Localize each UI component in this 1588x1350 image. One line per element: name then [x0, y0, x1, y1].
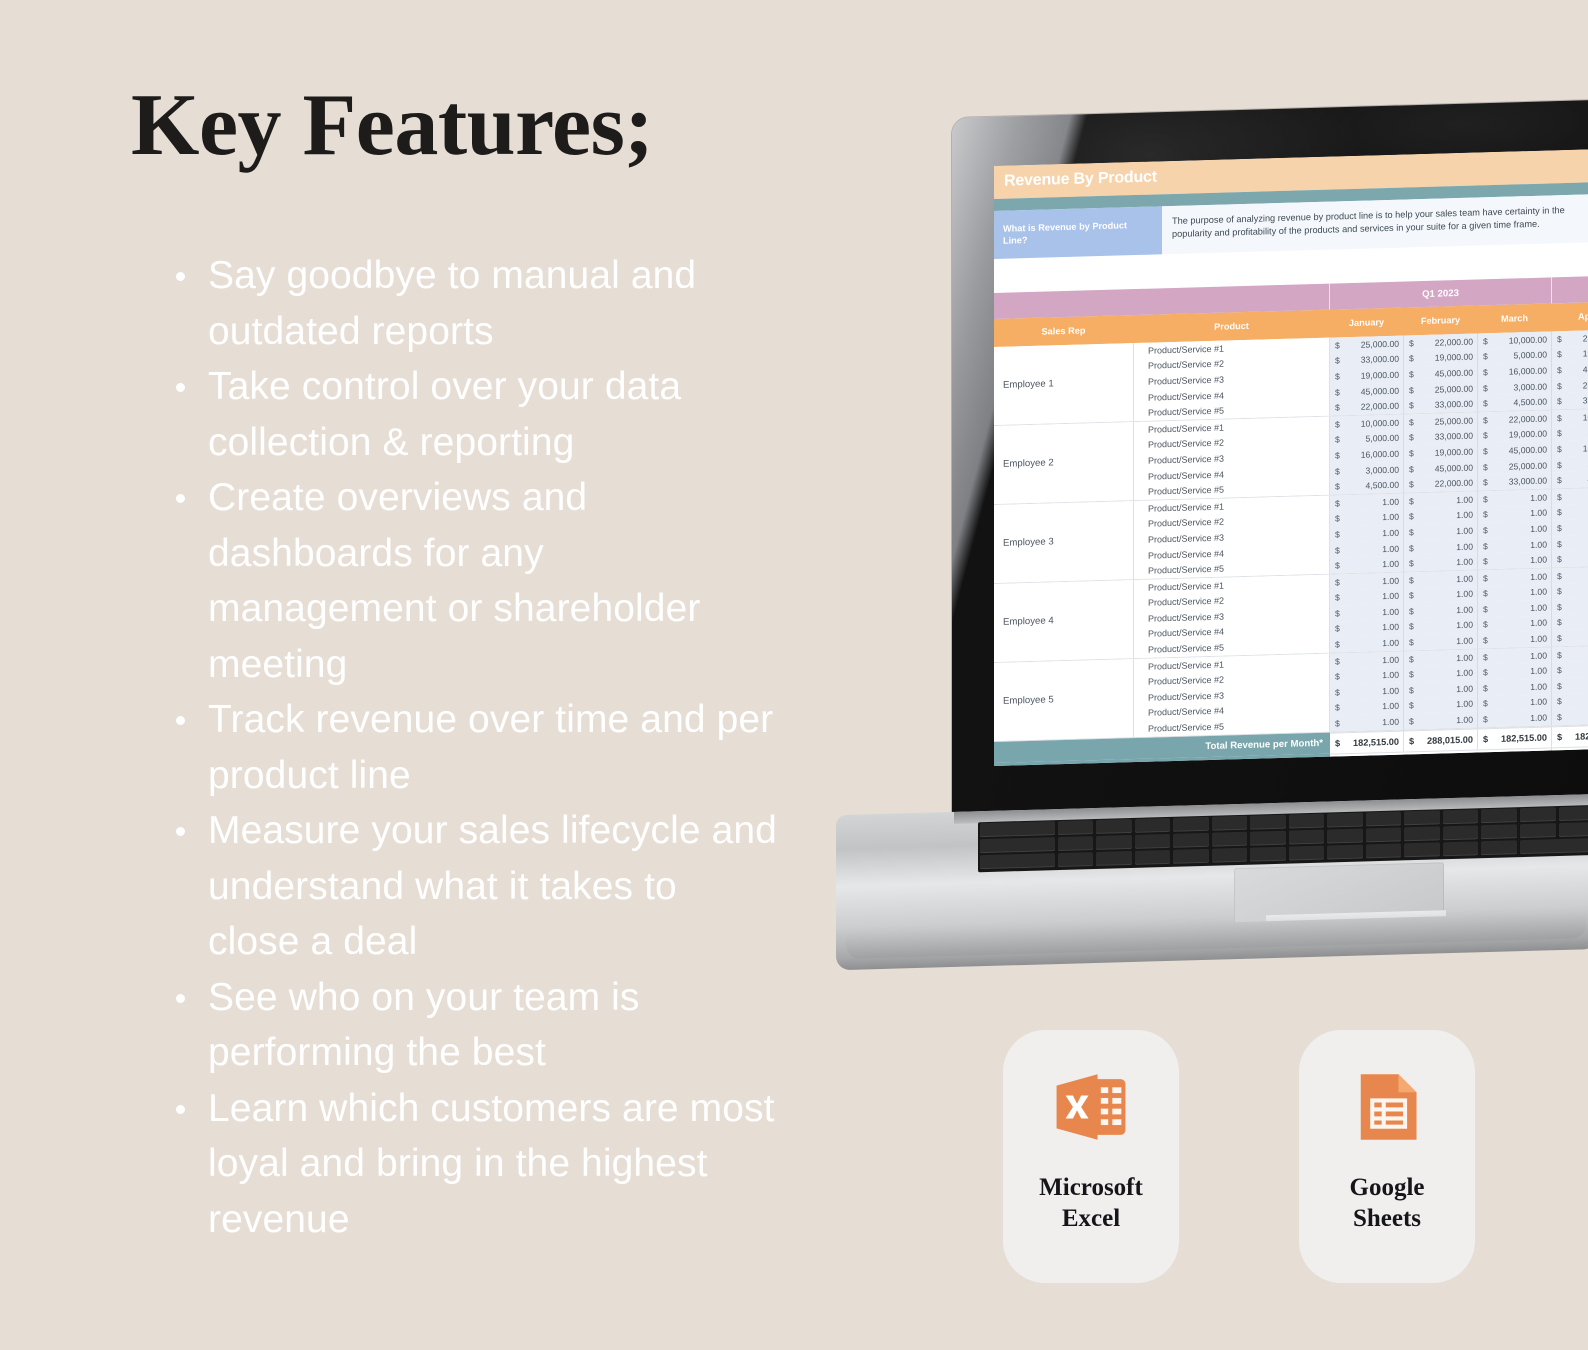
currency-symbol: $: [1409, 606, 1414, 616]
revenue-amount: 19,000.00: [1361, 370, 1399, 381]
currency-symbol: $: [1409, 591, 1414, 601]
total-month-cell: $182,515.00: [1330, 730, 1404, 753]
currency-symbol: $: [1483, 431, 1488, 441]
revenue-amount: 22,000.00: [1361, 401, 1399, 412]
currency-symbol: $: [1335, 545, 1340, 555]
revenue-cell: $: [1552, 534, 1588, 552]
revenue-cell: $1.00: [1478, 631, 1552, 649]
revenue-cell: $1.00: [1478, 710, 1552, 728]
currency-symbol: $: [1409, 496, 1414, 506]
revenue-amount: 1.00: [1382, 496, 1399, 506]
currency-symbol: $: [1409, 670, 1414, 680]
revenue-amount: 1.00: [1530, 539, 1547, 549]
revenue-amount: 1.00: [1530, 634, 1547, 644]
revenue-cell: $1.00: [1404, 712, 1478, 730]
currency-symbol: $: [1483, 652, 1488, 662]
revenue-amount: 45,000.00: [1435, 368, 1473, 379]
revenue-amount: 19,000.00: [1435, 447, 1473, 458]
revenue-amount: 33,000.00: [1583, 395, 1588, 406]
currency-symbol: $: [1335, 593, 1340, 603]
revenue-amount: 1.00: [1530, 587, 1547, 597]
revenue-cell: $22,000.00: [1404, 475, 1478, 493]
currency-symbol: $: [1483, 734, 1488, 744]
revenue-cell: $10,000.00: [1552, 408, 1588, 426]
revenue-cell: $1.00: [1404, 633, 1478, 651]
revenue-amount: 25,000.00: [1361, 338, 1399, 349]
currency-symbol: $: [1335, 624, 1340, 634]
revenue-amount: 10,000.00: [1583, 411, 1588, 422]
currency-symbol: $: [1335, 703, 1340, 713]
revenue-amount: 16,000.00: [1583, 442, 1588, 453]
currency-symbol: $: [1483, 573, 1488, 583]
currency-symbol: $: [1483, 462, 1488, 472]
revenue-cell: $1.00: [1330, 714, 1404, 732]
currency-symbol: $: [1335, 529, 1340, 539]
currency-symbol: $: [1409, 716, 1414, 726]
feature-item: Say goodbye to manual and outdated repor…: [168, 248, 778, 359]
excel-icon: [1050, 1066, 1132, 1148]
revenue-amount: 19,000.00: [1509, 429, 1547, 440]
revenue-cell: $4,500.00: [1330, 477, 1404, 495]
currency-symbol: $: [1409, 338, 1414, 348]
currency-symbol: $: [1557, 365, 1562, 375]
currency-symbol: $: [1409, 400, 1414, 410]
revenue-cell: $: [1552, 503, 1588, 521]
feature-item: Measure your sales lifecycle and underst…: [168, 803, 778, 970]
revenue-amount: 4,500.00: [1366, 480, 1399, 491]
revenue-amount: 1.00: [1382, 654, 1399, 664]
revenue-amount: 1.00: [1382, 559, 1399, 569]
revenue-amount: 1.00: [1530, 555, 1547, 565]
laptop-base: [836, 794, 1588, 970]
currency-symbol: $: [1557, 350, 1562, 360]
revenue-amount: 3,000.00: [1366, 464, 1399, 475]
revenue-amount: 10,000.00: [1509, 334, 1547, 345]
revenue-cell: $33,000.00: [1552, 392, 1588, 410]
revenue-amount: 1.00: [1382, 575, 1399, 585]
revenue-amount: 33,000.00: [1435, 399, 1473, 410]
currency-symbol: $: [1335, 356, 1340, 366]
currency-symbol: $: [1483, 494, 1488, 504]
currency-symbol: $: [1335, 481, 1340, 491]
quarter-next-cell: [1552, 272, 1588, 304]
revenue-amount: 1.00: [1456, 636, 1473, 646]
currency-symbol: $: [1335, 672, 1340, 682]
currency-symbol: $: [1335, 340, 1340, 350]
currency-symbol: $: [1557, 396, 1562, 406]
revenue-amount: 22,000.00: [1583, 332, 1588, 343]
revenue-amount: 33,000.00: [1361, 354, 1399, 365]
revenue-cell: $: [1552, 550, 1588, 568]
revenue-amount: 1.00: [1530, 571, 1547, 581]
revenue-cell: $22,000.00: [1330, 398, 1404, 416]
currency-symbol: $: [1335, 738, 1340, 748]
revenue-amount: 1.00: [1530, 618, 1547, 628]
revenue-amount: 1.00: [1530, 666, 1547, 676]
revenue-cell: $: [1552, 629, 1588, 647]
total-month-cell: $182,515.00: [1478, 726, 1552, 749]
currency-symbol: $: [1409, 464, 1414, 474]
currency-symbol: $: [1409, 622, 1414, 632]
revenue-amount: 1.00: [1456, 715, 1473, 725]
employee-name: Employee 2: [994, 422, 1134, 504]
revenue-amount: 45,000.00: [1509, 445, 1547, 456]
total-month-amount: 182,515.00: [1501, 732, 1547, 743]
revenue-amount: 16,000.00: [1361, 449, 1399, 460]
currency-symbol: $: [1335, 718, 1340, 728]
revenue-amount: 1.00: [1382, 686, 1399, 696]
badge-google-sheets: GoogleSheets: [1299, 1030, 1475, 1283]
currency-symbol: $: [1409, 736, 1414, 746]
currency-symbol: $: [1483, 398, 1488, 408]
revenue-amount: 25,000.00: [1583, 379, 1588, 390]
currency-symbol: $: [1335, 403, 1340, 413]
revenue-amount: 1.00: [1456, 573, 1473, 583]
revenue-amount: 5,000.00: [1366, 433, 1399, 444]
revenue-amount: 1.00: [1456, 510, 1473, 520]
revenue-amount: 1.00: [1456, 699, 1473, 709]
currency-symbol: $: [1483, 604, 1488, 614]
currency-symbol: $: [1557, 665, 1562, 675]
info-question-label: What is Revenue by Product Line?: [994, 206, 1162, 259]
currency-symbol: $: [1483, 415, 1488, 425]
currency-symbol: $: [1409, 654, 1414, 664]
currency-symbol: $: [1409, 385, 1414, 395]
revenue-amount: 1.00: [1530, 523, 1547, 533]
currency-symbol: $: [1409, 369, 1414, 379]
revenue-amount: 1.00: [1456, 668, 1473, 678]
header-month-march: March: [1478, 303, 1552, 333]
currency-symbol: $: [1557, 650, 1562, 660]
revenue-cell: $: [1552, 582, 1588, 600]
revenue-amount: 1.00: [1382, 670, 1399, 680]
revenue-cell: $: [1552, 708, 1588, 726]
currency-symbol: $: [1335, 419, 1340, 429]
currency-symbol: $: [1557, 586, 1562, 596]
header-month-february: February: [1404, 305, 1478, 335]
currency-symbol: $: [1483, 699, 1488, 709]
revenue-cell: $1.00: [1478, 552, 1552, 570]
revenue-amount: 1.00: [1530, 602, 1547, 612]
currency-symbol: $: [1557, 334, 1562, 344]
currency-symbol: $: [1557, 381, 1562, 391]
currency-symbol: $: [1483, 446, 1488, 456]
currency-symbol: $: [1557, 523, 1562, 533]
currency-symbol: $: [1557, 460, 1562, 470]
revenue-amount: 33,000.00: [1435, 431, 1473, 442]
currency-symbol: $: [1483, 667, 1488, 677]
currency-symbol: $: [1557, 492, 1562, 502]
currency-symbol: $: [1557, 413, 1562, 423]
currency-symbol: $: [1335, 371, 1340, 381]
currency-symbol: $: [1483, 352, 1488, 362]
revenue-amount: 3,000.00: [1514, 381, 1547, 392]
currency-symbol: $: [1409, 543, 1414, 553]
revenue-cell: $: [1552, 597, 1588, 615]
currency-symbol: $: [1557, 732, 1562, 742]
revenue-amount: 1.00: [1382, 591, 1399, 601]
currency-symbol: $: [1335, 639, 1340, 649]
employee-name: Employee 1: [994, 343, 1134, 425]
revenue-cell: $: [1552, 645, 1588, 663]
currency-symbol: $: [1483, 683, 1488, 693]
revenue-amount: 1.00: [1382, 717, 1399, 727]
revenue-amount: 1.00: [1382, 701, 1399, 711]
revenue-amount: 22,000.00: [1435, 336, 1473, 347]
revenue-amount: 1.00: [1456, 605, 1473, 615]
feature-item: See who on your team is performing the b…: [168, 970, 778, 1081]
currency-symbol: $: [1335, 514, 1340, 524]
compatibility-badges: MicrosoftExcel GoogleSheets: [1003, 1030, 1475, 1283]
currency-symbol: $: [1557, 428, 1562, 438]
revenue-cell: $: [1552, 613, 1588, 631]
revenue-amount: 1.00: [1530, 492, 1547, 502]
currency-symbol: $: [1409, 575, 1414, 585]
employee-name: Employee 4: [994, 580, 1134, 662]
currency-symbol: $: [1335, 687, 1340, 697]
revenue-amount: 19,000.00: [1583, 348, 1588, 359]
google-sheets-icon: [1346, 1066, 1428, 1148]
currency-symbol: $: [1483, 620, 1488, 630]
total-month-amount: 182,515.00: [1353, 737, 1399, 748]
revenue-cell: $: [1552, 487, 1588, 505]
revenue-amount: 1.00: [1456, 589, 1473, 599]
revenue-cell: $25,000.00: [1552, 376, 1588, 394]
currency-symbol: $: [1557, 712, 1562, 722]
currency-symbol: $: [1483, 336, 1488, 346]
total-month-amount: 288,015.00: [1427, 734, 1473, 745]
currency-symbol: $: [1483, 714, 1488, 724]
currency-symbol: $: [1557, 475, 1562, 485]
currency-symbol: $: [1483, 510, 1488, 520]
revenue-cell: $33,000.00: [1404, 396, 1478, 414]
laptop-screen-content: Revenue By Product What is Revenue by Pr…: [994, 149, 1588, 766]
currency-symbol: $: [1335, 466, 1340, 476]
revenue-cell: $4,500.00: [1478, 394, 1552, 412]
revenue-amount: 19,000.00: [1435, 352, 1473, 363]
currency-symbol: $: [1409, 479, 1414, 489]
feature-item: Learn which customers are most loyal and…: [168, 1081, 778, 1248]
revenue-amount: 1.00: [1456, 620, 1473, 630]
revenue-amount: 45,000.00: [1583, 363, 1588, 374]
header-month-january: January: [1330, 308, 1404, 338]
feature-list: Say goodbye to manual and outdated repor…: [168, 248, 778, 1247]
revenue-cell: $: [1552, 676, 1588, 694]
revenue-amount: 1.00: [1456, 683, 1473, 693]
currency-symbol: $: [1409, 558, 1414, 568]
revenue-amount: 45,000.00: [1361, 385, 1399, 396]
currency-symbol: $: [1335, 435, 1340, 445]
revenue-amount: 25,000.00: [1435, 383, 1473, 394]
currency-symbol: $: [1557, 633, 1562, 643]
revenue-amount: 25,000.00: [1435, 415, 1473, 426]
currency-symbol: $: [1409, 448, 1414, 458]
feature-item: Track revenue over time and per product …: [168, 692, 778, 803]
currency-symbol: $: [1557, 602, 1562, 612]
revenue-amount: 1.00: [1530, 713, 1547, 723]
revenue-amount: 22,000.00: [1435, 478, 1473, 489]
currency-symbol: $: [1557, 571, 1562, 581]
revenue-cell: $: [1552, 692, 1588, 710]
currency-symbol: $: [1335, 387, 1340, 397]
header-sales-rep: Sales Rep: [994, 315, 1134, 347]
currency-symbol: $: [1335, 498, 1340, 508]
revenue-amount: 1.00: [1456, 494, 1473, 504]
revenue-amount: 1.00: [1530, 681, 1547, 691]
currency-symbol: $: [1409, 685, 1414, 695]
currency-symbol: $: [1557, 681, 1562, 691]
currency-symbol: $: [1483, 589, 1488, 599]
page-title: Key Features;: [131, 82, 653, 170]
left-content-panel: Key Features; Say goodbye to manual and …: [0, 0, 840, 1350]
revenue-amount: 1.00: [1382, 512, 1399, 522]
currency-symbol: $: [1557, 539, 1562, 549]
currency-symbol: $: [1409, 433, 1414, 443]
employee-rows-container: Employee 1Product/Service #1$25,000.00$2…: [994, 326, 1588, 742]
currency-symbol: $: [1557, 697, 1562, 707]
currency-symbol: $: [1483, 383, 1488, 393]
currency-symbol: $: [1335, 560, 1340, 570]
currency-symbol: $: [1409, 354, 1414, 364]
revenue-cell: $19,000.00: [1552, 345, 1588, 363]
revenue-amount: 22,000.00: [1509, 413, 1547, 424]
currency-symbol: $: [1557, 554, 1562, 564]
revenue-amount: 1.00: [1382, 622, 1399, 632]
revenue-cell: $5,000.00: [1552, 424, 1588, 442]
badge-microsoft-excel: MicrosoftExcel: [1003, 1030, 1179, 1283]
revenue-amount: 1.00: [1382, 543, 1399, 553]
revenue-amount: 1.00: [1382, 607, 1399, 617]
revenue-amount: 4,500.00: [1514, 397, 1547, 408]
revenue-cell: $22,000.00: [1552, 329, 1588, 347]
badge-label-sheets: GoogleSheets: [1350, 1172, 1425, 1234]
revenue-cell: $: [1552, 661, 1588, 679]
revenue-amount: 10,000.00: [1361, 417, 1399, 428]
revenue-cell: $: [1552, 566, 1588, 584]
total-month-cell: $288,015.00: [1404, 728, 1478, 751]
currency-symbol: $: [1335, 608, 1340, 618]
revenue-cell: $45,000.00: [1552, 361, 1588, 379]
revenue-amount: 1.00: [1530, 508, 1547, 518]
currency-symbol: $: [1335, 656, 1340, 666]
revenue-cell: $: [1552, 518, 1588, 536]
revenue-cell: $33,000.00: [1478, 473, 1552, 491]
feature-item: Take control over your data collection &…: [168, 359, 778, 470]
revenue-amount: 1.00: [1382, 638, 1399, 648]
revenue-amount: 16,000.00: [1509, 366, 1547, 377]
revenue-amount: 1.00: [1456, 557, 1473, 567]
revenue-amount: 1.00: [1382, 528, 1399, 538]
feature-item: Create overviews and dashboards for any …: [168, 470, 778, 692]
revenue-cell: $3,000.00: [1552, 455, 1588, 473]
revenue-amount: 1.00: [1456, 526, 1473, 536]
currency-symbol: $: [1557, 507, 1562, 517]
revenue-amount: 1.00: [1456, 652, 1473, 662]
total-month-amount: 182,515.00: [1575, 730, 1588, 741]
employee-name: Employee 5: [994, 659, 1134, 741]
revenue-cell: $16,000.00: [1552, 440, 1588, 458]
currency-symbol: $: [1483, 367, 1488, 377]
laptop-base-front: [846, 912, 1586, 959]
header-month-april: April: [1552, 301, 1588, 331]
currency-symbol: $: [1483, 635, 1488, 645]
currency-symbol: $: [1483, 477, 1488, 487]
currency-symbol: $: [1409, 417, 1414, 427]
laptop-mockup: Revenue By Product What is Revenue by Pr…: [836, 118, 1588, 948]
revenue-cell: $1.00: [1330, 635, 1404, 653]
currency-symbol: $: [1557, 618, 1562, 628]
currency-symbol: $: [1335, 577, 1340, 587]
currency-symbol: $: [1335, 450, 1340, 460]
currency-symbol: $: [1409, 637, 1414, 647]
revenue-cell: $1.00: [1404, 554, 1478, 572]
revenue-amount: 5,000.00: [1514, 350, 1547, 361]
currency-symbol: $: [1483, 541, 1488, 551]
revenue-amount: 33,000.00: [1509, 476, 1547, 487]
revenue-amount: 25,000.00: [1509, 460, 1547, 471]
revenue-amount: 1.00: [1530, 650, 1547, 660]
currency-symbol: $: [1409, 512, 1414, 522]
revenue-amount: 45,000.00: [1435, 462, 1473, 473]
revenue-cell: $4,500.00: [1552, 471, 1588, 489]
spreadsheet: Revenue By Product What is Revenue by Pr…: [994, 149, 1588, 766]
total-month-cell: $182,515.00: [1552, 724, 1588, 747]
badge-label-excel: MicrosoftExcel: [1039, 1172, 1143, 1234]
revenue-amount: 1.00: [1456, 541, 1473, 551]
revenue-cell: $1.00: [1330, 556, 1404, 574]
currency-symbol: $: [1483, 525, 1488, 535]
employee-name: Employee 3: [994, 501, 1134, 583]
currency-symbol: $: [1557, 444, 1562, 454]
currency-symbol: $: [1409, 701, 1414, 711]
revenue-amount: 1.00: [1530, 697, 1547, 707]
currency-symbol: $: [1483, 556, 1488, 566]
currency-symbol: $: [1409, 527, 1414, 537]
